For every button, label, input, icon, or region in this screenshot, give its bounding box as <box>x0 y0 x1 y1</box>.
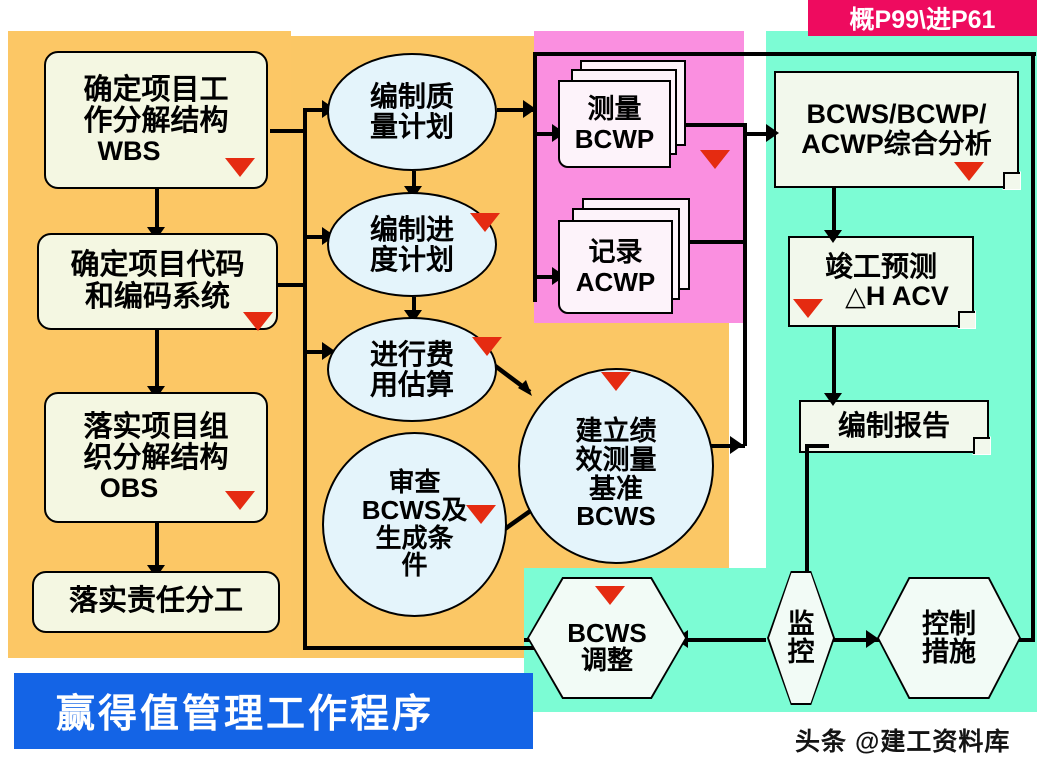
marker-triangle-forecast <box>793 299 823 318</box>
page-reference-badge: 概P99\进P61 <box>808 0 1037 36</box>
node-measure-line1: 测量 <box>588 95 642 124</box>
node-measure-line2: BCWP <box>575 125 654 153</box>
marker-triangle-obs <box>225 491 255 510</box>
node-record-line1: 记录 <box>589 238 643 267</box>
node-quality-line2: 量计划 <box>370 112 454 142</box>
node-wbs-line1: 确定项目工 <box>83 75 228 106</box>
marker-triangle-analysis <box>954 162 984 181</box>
collector-bus-left <box>533 52 537 302</box>
top-return-line <box>533 52 1036 56</box>
node-responsibility[interactable]: 落实责任分工 <box>32 571 280 633</box>
connector-report-left <box>805 444 829 448</box>
node-sched-line2: 度计划 <box>370 245 454 275</box>
node-analysis-line1: BCWS/BCWP/ <box>807 100 987 129</box>
node-quality-line1: 编制质 <box>370 82 454 112</box>
node-review-line4: 件 <box>401 552 427 580</box>
node-obs-line2: 织分解结构 <box>83 443 228 474</box>
node-review-bcws[interactable]: 审查 BCWS及 生成条 件 <box>322 432 507 617</box>
node-base-line3: 基准 <box>589 475 643 504</box>
node-record-line2: ACWP <box>576 268 655 296</box>
distribution-bus <box>303 108 307 648</box>
node-base-line4: BCWS <box>576 503 655 531</box>
marker-triangle-schedule <box>470 213 500 232</box>
node-adjust-line2: 调整 <box>581 647 633 674</box>
connector-wbs-out <box>270 129 306 133</box>
node-cost-estimate[interactable]: 进行费 用估算 <box>327 317 497 422</box>
node-cost-line2: 用估算 <box>370 370 454 400</box>
node-monitor-line1: 监 <box>788 610 815 638</box>
connector-analysis-forecast <box>832 188 836 236</box>
node-cost-line1: 进行费 <box>370 340 454 370</box>
marker-triangle-adjust <box>595 586 625 605</box>
arrowhead-bus-baseline <box>730 436 743 454</box>
node-base-line1: 建立绩 <box>576 417 657 446</box>
connector-report-down <box>805 444 809 590</box>
node-sched-line1: 编制进 <box>370 215 454 245</box>
watermark-text: 头条 @建工资料库 <box>795 722 1010 758</box>
node-control-line1: 控制 <box>922 610 976 638</box>
node-report-line1: 编制报告 <box>838 411 950 441</box>
node-performance-baseline[interactable]: 建立绩 效测量 基准 BCWS <box>518 368 714 564</box>
node-wbs-line3: WBS <box>98 137 215 166</box>
node-record-acwp[interactable]: 记录 ACWP <box>558 198 693 318</box>
node-analysis-line2: ACWP综合分析 <box>801 130 992 159</box>
node-control-line2: 措施 <box>922 638 976 666</box>
control-feedback-riser <box>1031 52 1035 642</box>
connector-obs-to-duty <box>155 523 159 571</box>
connector-measure-out <box>676 123 746 127</box>
node-forecast-line1: 竣工预测 <box>825 252 937 282</box>
arrowhead-report <box>824 393 842 406</box>
node-forecast-line2: △H ACV <box>813 282 949 311</box>
node-code-line1: 确定项目代码 <box>70 250 244 281</box>
node-project-code[interactable]: 确定项目代码 和编码系统 <box>37 233 278 330</box>
node-adjust-line1: BCWS <box>567 620 646 647</box>
node-duty-line1: 落实责任分工 <box>69 586 243 617</box>
node-review-line2: BCWS及 <box>362 497 467 525</box>
connector-forecast-report <box>832 327 836 400</box>
marker-triangle-review <box>466 505 496 524</box>
arrowhead-analysis <box>766 124 779 142</box>
node-monitor-line2: 控 <box>788 638 815 666</box>
connector-code-to-obs <box>155 330 159 392</box>
node-control-measures[interactable]: 控制 措施 <box>877 577 1021 699</box>
connector-monitor-adjust <box>686 638 766 642</box>
node-schedule-plan[interactable]: 编制进 度计划 <box>327 192 497 297</box>
marker-triangle-baseline <box>601 372 631 391</box>
node-base-line2: 效测量 <box>576 446 657 475</box>
diagram-canvas: 概P99\进P61 <box>0 0 1037 769</box>
connector-bus-bottom <box>303 646 538 650</box>
node-obs-line3: OBS <box>100 474 213 503</box>
page-title: 赢得值管理工作程序 <box>14 673 533 749</box>
arrowhead-forecast <box>824 230 842 243</box>
marker-triangle-cost <box>472 337 502 356</box>
marker-triangle-wbs <box>225 158 255 177</box>
analysis-bus <box>743 123 747 446</box>
node-quality-plan[interactable]: 编制质 量计划 <box>327 53 497 171</box>
node-review-line1: 审查 <box>388 469 440 497</box>
node-monitor[interactable]: 监 控 <box>767 571 835 705</box>
node-obs-line1: 落实项目组 <box>83 412 228 443</box>
marker-triangle-code <box>243 312 273 331</box>
node-code-line2: 和编码系统 <box>85 282 230 313</box>
node-measure-bcwp[interactable]: 测量 BCWP <box>558 60 686 173</box>
marker-triangle-measure <box>700 150 730 169</box>
node-review-line3: 生成条 <box>375 525 453 553</box>
node-wbs-line2: 作分解结构 <box>83 106 228 137</box>
arrowhead-collect-top <box>523 100 536 118</box>
